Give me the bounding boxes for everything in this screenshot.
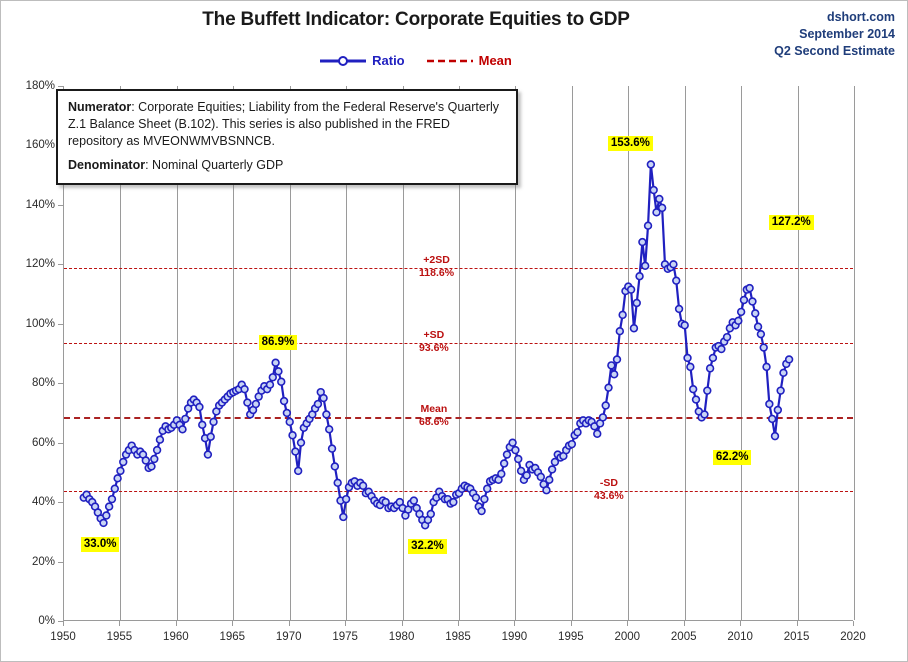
x-axis-label-2005: 2005 xyxy=(659,631,709,643)
data-point xyxy=(602,402,609,409)
data-point xyxy=(298,439,305,446)
data-point xyxy=(611,371,618,378)
data-point xyxy=(631,325,638,332)
callout-86-9: 86.9% xyxy=(259,335,298,350)
reference-label-name: -SD xyxy=(594,477,624,490)
x-axis-label-1990: 1990 xyxy=(489,631,539,643)
x-axis-label-1970: 1970 xyxy=(264,631,314,643)
data-point xyxy=(481,496,488,503)
y-axis-tick-20 xyxy=(58,562,63,563)
data-point xyxy=(179,426,186,433)
reference-label-name: +SD xyxy=(419,329,449,342)
y-axis-tick-40 xyxy=(58,502,63,503)
data-point xyxy=(741,297,748,304)
y-axis-label-80: 80% xyxy=(9,377,55,389)
y-axis-label-0: 0% xyxy=(9,615,55,627)
data-point xyxy=(326,426,333,433)
data-point xyxy=(292,448,299,455)
x-axis-label-1965: 1965 xyxy=(207,631,257,643)
data-point xyxy=(484,485,491,492)
data-point xyxy=(645,222,652,229)
data-point xyxy=(320,395,327,402)
data-point xyxy=(724,334,731,341)
data-point xyxy=(777,387,784,394)
data-point xyxy=(329,445,336,452)
chart-page: The Buffett Indicator: Corporate Equitie… xyxy=(0,0,908,662)
data-point xyxy=(360,482,367,489)
data-point xyxy=(275,368,282,375)
data-point xyxy=(707,365,714,372)
data-point xyxy=(103,512,110,519)
y-axis-label-20: 20% xyxy=(9,556,55,568)
data-point xyxy=(605,384,612,391)
x-axis-label-2000: 2000 xyxy=(602,631,652,643)
x-axis-label-1960: 1960 xyxy=(151,631,201,643)
data-point xyxy=(157,436,164,443)
legend-item-ratio[interactable]: Ratio xyxy=(320,53,405,68)
data-point xyxy=(670,261,677,268)
data-point xyxy=(478,508,485,515)
data-point xyxy=(151,456,158,463)
data-point xyxy=(427,511,434,518)
data-point xyxy=(628,286,635,293)
data-point xyxy=(687,363,694,370)
data-point xyxy=(684,355,691,362)
data-point xyxy=(786,356,793,363)
reference-label-minusSD: -SD43.6% xyxy=(594,477,624,503)
data-point xyxy=(114,475,121,482)
reference-label-plusSD: +SD93.6% xyxy=(419,329,449,355)
data-point xyxy=(283,410,290,417)
chart-legend: Ratio Mean xyxy=(1,53,831,68)
source-date: September 2014 xyxy=(774,26,895,43)
data-point xyxy=(681,322,688,329)
data-point xyxy=(546,476,553,483)
data-point xyxy=(512,447,519,454)
data-point xyxy=(504,451,511,458)
data-point xyxy=(252,401,259,408)
reference-label-value: 118.6% xyxy=(419,267,454,280)
data-point xyxy=(106,503,113,510)
y-axis-tick-180 xyxy=(58,86,63,87)
y-axis-label-120: 120% xyxy=(9,258,55,270)
data-point xyxy=(272,359,279,366)
x-axis-tick-1990 xyxy=(514,621,515,626)
data-point xyxy=(537,473,544,480)
data-point xyxy=(633,300,640,307)
x-axis-tick-2020 xyxy=(853,621,854,626)
reference-label-value: 68.6% xyxy=(419,416,449,429)
x-axis-tick-1965 xyxy=(232,621,233,626)
data-point xyxy=(498,470,505,477)
callout-33-0: 33.0% xyxy=(81,537,120,552)
data-point xyxy=(543,487,550,494)
reference-label-name: Mean xyxy=(419,403,449,416)
y-axis-label-60: 60% xyxy=(9,437,55,449)
data-point xyxy=(639,239,646,246)
callout-32-2: 32.2% xyxy=(408,539,447,554)
data-point xyxy=(673,277,680,284)
data-point xyxy=(509,439,516,446)
x-axis-tick-1995 xyxy=(571,621,572,626)
data-point xyxy=(343,496,350,503)
data-point xyxy=(286,418,293,425)
x-axis-tick-1950 xyxy=(63,621,64,626)
data-point xyxy=(410,497,417,504)
x-axis-label-1955: 1955 xyxy=(94,631,144,643)
data-point xyxy=(710,355,717,362)
data-point xyxy=(769,415,776,422)
data-point xyxy=(241,386,248,393)
y-axis-tick-80 xyxy=(58,383,63,384)
x-axis-label-2015: 2015 xyxy=(772,631,822,643)
y-axis-tick-140 xyxy=(58,205,63,206)
page-title: The Buffett Indicator: Corporate Equitie… xyxy=(1,9,831,31)
legend-label-ratio: Ratio xyxy=(372,53,405,68)
data-point xyxy=(757,331,764,338)
annotation-numerator: Numerator: Corporate Equities; Liability… xyxy=(68,99,506,150)
reference-label-value: 93.6% xyxy=(419,342,449,355)
data-point xyxy=(693,396,700,403)
data-point xyxy=(100,520,107,527)
data-point xyxy=(323,411,330,418)
data-point xyxy=(676,306,683,313)
x-axis-tick-2010 xyxy=(740,621,741,626)
data-point xyxy=(647,161,654,168)
annotation-denominator-text: : Nominal Quarterly GDP xyxy=(145,158,283,172)
x-axis-label-1980: 1980 xyxy=(377,631,427,643)
data-point xyxy=(117,468,124,475)
data-point xyxy=(718,346,725,353)
data-point xyxy=(614,356,621,363)
y-axis-label-100: 100% xyxy=(9,318,55,330)
data-point xyxy=(515,456,522,463)
data-point xyxy=(334,479,341,486)
annotation-denominator-key: Denominator xyxy=(68,158,145,172)
annotation-box: Numerator: Corporate Equities; Liability… xyxy=(56,89,518,185)
data-point xyxy=(267,381,274,388)
data-point xyxy=(196,404,203,411)
data-point xyxy=(594,430,601,437)
y-axis-label-160: 160% xyxy=(9,139,55,151)
y-axis-tick-120 xyxy=(58,264,63,265)
data-point xyxy=(735,317,742,324)
data-point xyxy=(340,514,347,521)
mean-line-swatch-icon xyxy=(427,55,473,67)
data-point xyxy=(154,447,161,454)
x-axis-tick-2005 xyxy=(684,621,685,626)
annotation-numerator-key: Numerator xyxy=(68,100,131,114)
data-point xyxy=(749,298,756,305)
data-point xyxy=(120,459,127,466)
data-point xyxy=(690,386,697,393)
ratio-line-swatch-icon xyxy=(320,55,366,67)
source-site: dshort.com xyxy=(774,9,895,26)
data-point xyxy=(774,407,781,414)
data-point xyxy=(772,433,779,440)
legend-item-mean[interactable]: Mean xyxy=(427,53,512,68)
x-axis-label-1950: 1950 xyxy=(38,631,88,643)
reference-label-name: +2SD xyxy=(419,254,454,267)
legend-label-mean: Mean xyxy=(479,53,512,68)
data-point xyxy=(269,374,276,381)
data-point xyxy=(450,499,457,506)
data-point xyxy=(616,328,623,335)
y-axis-tick-60 xyxy=(58,443,63,444)
data-point xyxy=(289,432,296,439)
callout-153-6: 153.6% xyxy=(608,136,653,151)
data-point xyxy=(204,451,211,458)
data-point xyxy=(331,463,338,470)
data-point xyxy=(574,429,581,436)
callout-127-2: 127.2% xyxy=(769,215,814,230)
data-point xyxy=(659,204,666,211)
data-point xyxy=(763,363,770,370)
data-point xyxy=(738,308,745,315)
reference-label-plus2SD: +2SD118.6% xyxy=(419,254,454,280)
data-point xyxy=(780,369,787,376)
x-axis-tick-2000 xyxy=(627,621,628,626)
x-axis-tick-1960 xyxy=(176,621,177,626)
y-axis-label-180: 180% xyxy=(9,80,55,92)
data-point xyxy=(111,485,118,492)
reference-label-Mean: Mean68.6% xyxy=(419,403,449,429)
y-axis-label-140: 140% xyxy=(9,199,55,211)
data-point xyxy=(636,273,643,280)
data-point xyxy=(199,421,206,428)
data-point xyxy=(642,262,649,269)
x-axis-label-2010: 2010 xyxy=(715,631,765,643)
x-axis-label-2020: 2020 xyxy=(828,631,878,643)
gridline-2020 xyxy=(854,86,855,620)
data-point xyxy=(109,496,116,503)
x-axis-tick-1955 xyxy=(119,621,120,626)
data-point xyxy=(568,441,575,448)
annotation-denominator: Denominator: Nominal Quarterly GDP xyxy=(68,157,506,174)
data-point xyxy=(599,414,606,421)
data-point xyxy=(755,323,762,330)
data-point xyxy=(473,494,480,501)
callout-62-2: 62.2% xyxy=(713,450,752,465)
data-point xyxy=(210,418,217,425)
x-axis-tick-1985 xyxy=(458,621,459,626)
data-point xyxy=(295,468,302,475)
y-axis-label-40: 40% xyxy=(9,496,55,508)
annotation-numerator-text: : Corporate Equities; Liability from the… xyxy=(68,100,499,148)
data-point xyxy=(608,362,615,369)
data-point xyxy=(549,466,556,473)
data-point xyxy=(619,311,626,318)
data-point xyxy=(244,399,251,406)
x-axis-label-1995: 1995 xyxy=(546,631,596,643)
data-point xyxy=(704,387,711,394)
data-point xyxy=(207,433,214,440)
data-point xyxy=(752,310,759,317)
x-axis-tick-1970 xyxy=(289,621,290,626)
data-point xyxy=(148,463,155,470)
x-axis-tick-2015 xyxy=(797,621,798,626)
x-axis-tick-1975 xyxy=(345,621,346,626)
data-point xyxy=(281,398,288,405)
data-point xyxy=(278,378,285,385)
x-axis-label-1985: 1985 xyxy=(433,631,483,643)
data-point xyxy=(766,401,773,408)
reference-label-value: 43.6% xyxy=(594,490,624,503)
data-point xyxy=(760,344,767,351)
x-axis-tick-1980 xyxy=(402,621,403,626)
data-point xyxy=(656,196,663,203)
x-axis-label-1975: 1975 xyxy=(320,631,370,643)
data-point xyxy=(701,411,708,418)
data-point xyxy=(182,415,189,422)
data-point xyxy=(315,401,322,408)
y-axis-tick-100 xyxy=(58,324,63,325)
data-point xyxy=(142,457,149,464)
data-point xyxy=(746,285,753,292)
data-point xyxy=(523,472,530,479)
data-point xyxy=(650,187,657,194)
data-point xyxy=(501,460,508,467)
